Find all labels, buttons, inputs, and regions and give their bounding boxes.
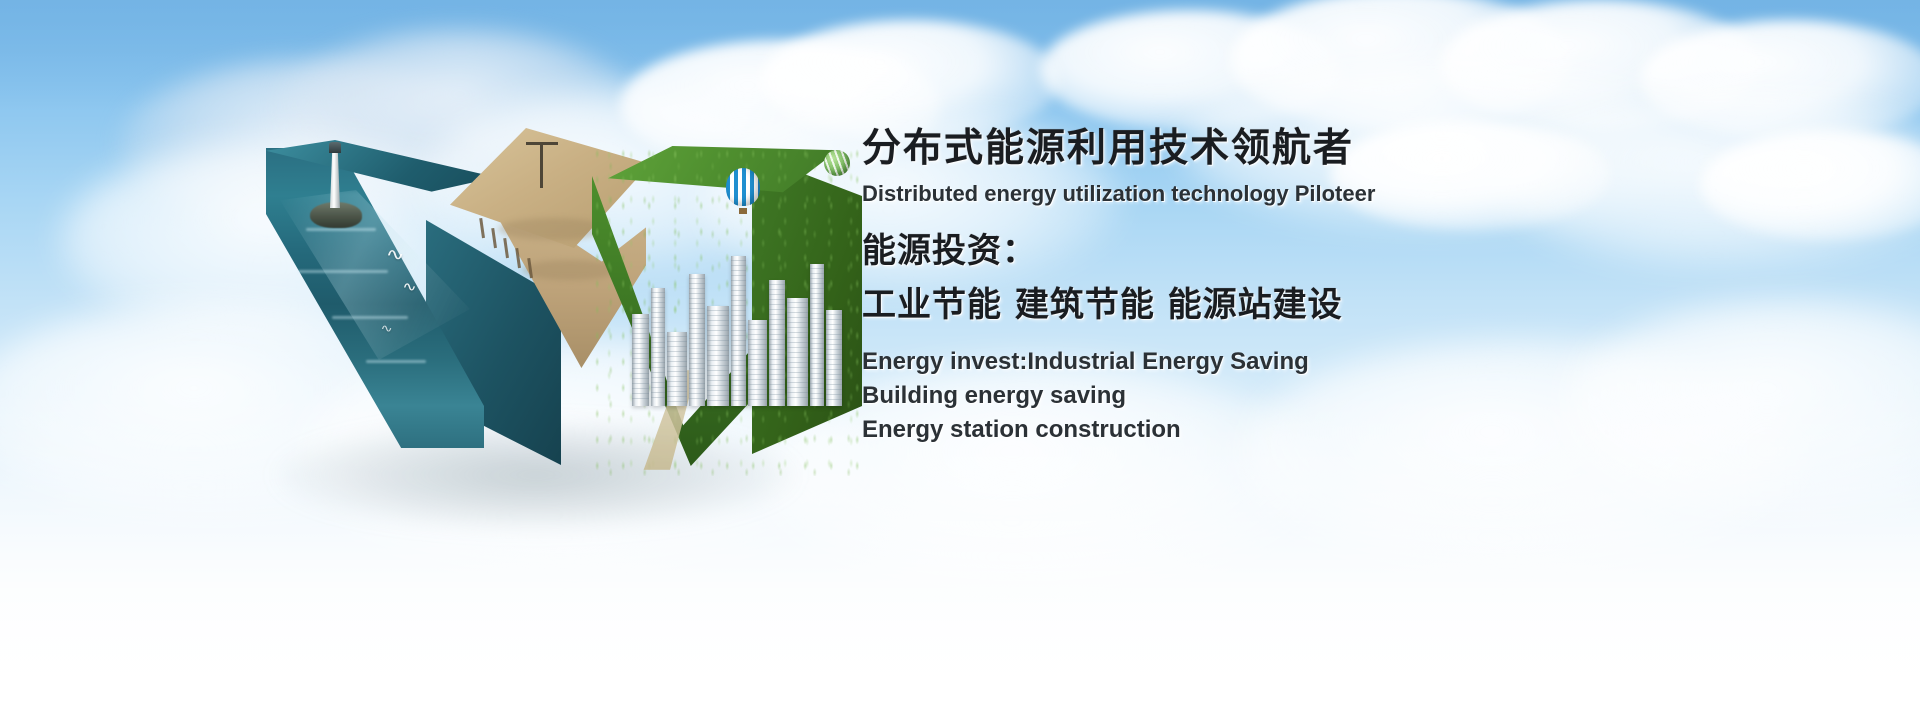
- signpost-pole: [540, 142, 543, 188]
- marketing-banner: ∿ ∿ ∿: [0, 0, 1920, 720]
- headline-english: Distributed energy utilization technolog…: [862, 181, 1462, 207]
- services-list-chinese: 工业节能 建筑节能 能源站建设: [862, 283, 1462, 329]
- hot-air-balloon-icon: [726, 168, 760, 214]
- city-skyline: [632, 216, 842, 406]
- fence-post: [503, 238, 509, 258]
- seagull-icon: ∿: [402, 280, 417, 293]
- dune-shadow: [498, 218, 608, 240]
- 3d-letter-w-logo: ∿ ∿ ∿: [236, 120, 836, 500]
- dune-shadow: [522, 260, 618, 280]
- banner-text-block: 分布式能源利用技术领航者 Distributed energy utilizat…: [862, 126, 1462, 447]
- building: [707, 306, 729, 406]
- fence-post: [479, 218, 485, 238]
- fence-post: [491, 228, 497, 248]
- section-label-chinese: 能源投资：: [862, 229, 1462, 275]
- building: [731, 256, 746, 406]
- building: [810, 264, 824, 406]
- balloon-envelope: [726, 168, 760, 206]
- seagull-icon: ∿: [386, 246, 405, 263]
- services-english-line-2: Building energy saving: [862, 379, 1462, 413]
- seagull-icon: ∿: [380, 324, 392, 335]
- building: [748, 320, 767, 406]
- green-globe-icon: [824, 150, 850, 176]
- building: [651, 288, 665, 406]
- balloon-basket: [739, 208, 747, 214]
- headline-chinese: 分布式能源利用技术领航者: [862, 126, 1462, 172]
- lighthouse-lamp: [329, 142, 341, 153]
- building: [667, 332, 687, 406]
- signpost-arm: [526, 142, 558, 145]
- building: [769, 280, 785, 406]
- services-english-line-3: Energy station construction: [862, 413, 1462, 447]
- lighthouse-tower: [330, 150, 340, 208]
- ocean-wave: [298, 270, 388, 273]
- building: [689, 274, 705, 406]
- ocean-wave: [366, 360, 426, 363]
- ocean-wave: [306, 228, 376, 231]
- ocean-wave: [332, 316, 408, 319]
- building: [632, 314, 649, 406]
- lighthouse-icon: [324, 142, 346, 224]
- services-english-line-1: Energy invest:Industrial Energy Saving: [862, 345, 1462, 379]
- building: [787, 298, 808, 406]
- building: [826, 310, 842, 406]
